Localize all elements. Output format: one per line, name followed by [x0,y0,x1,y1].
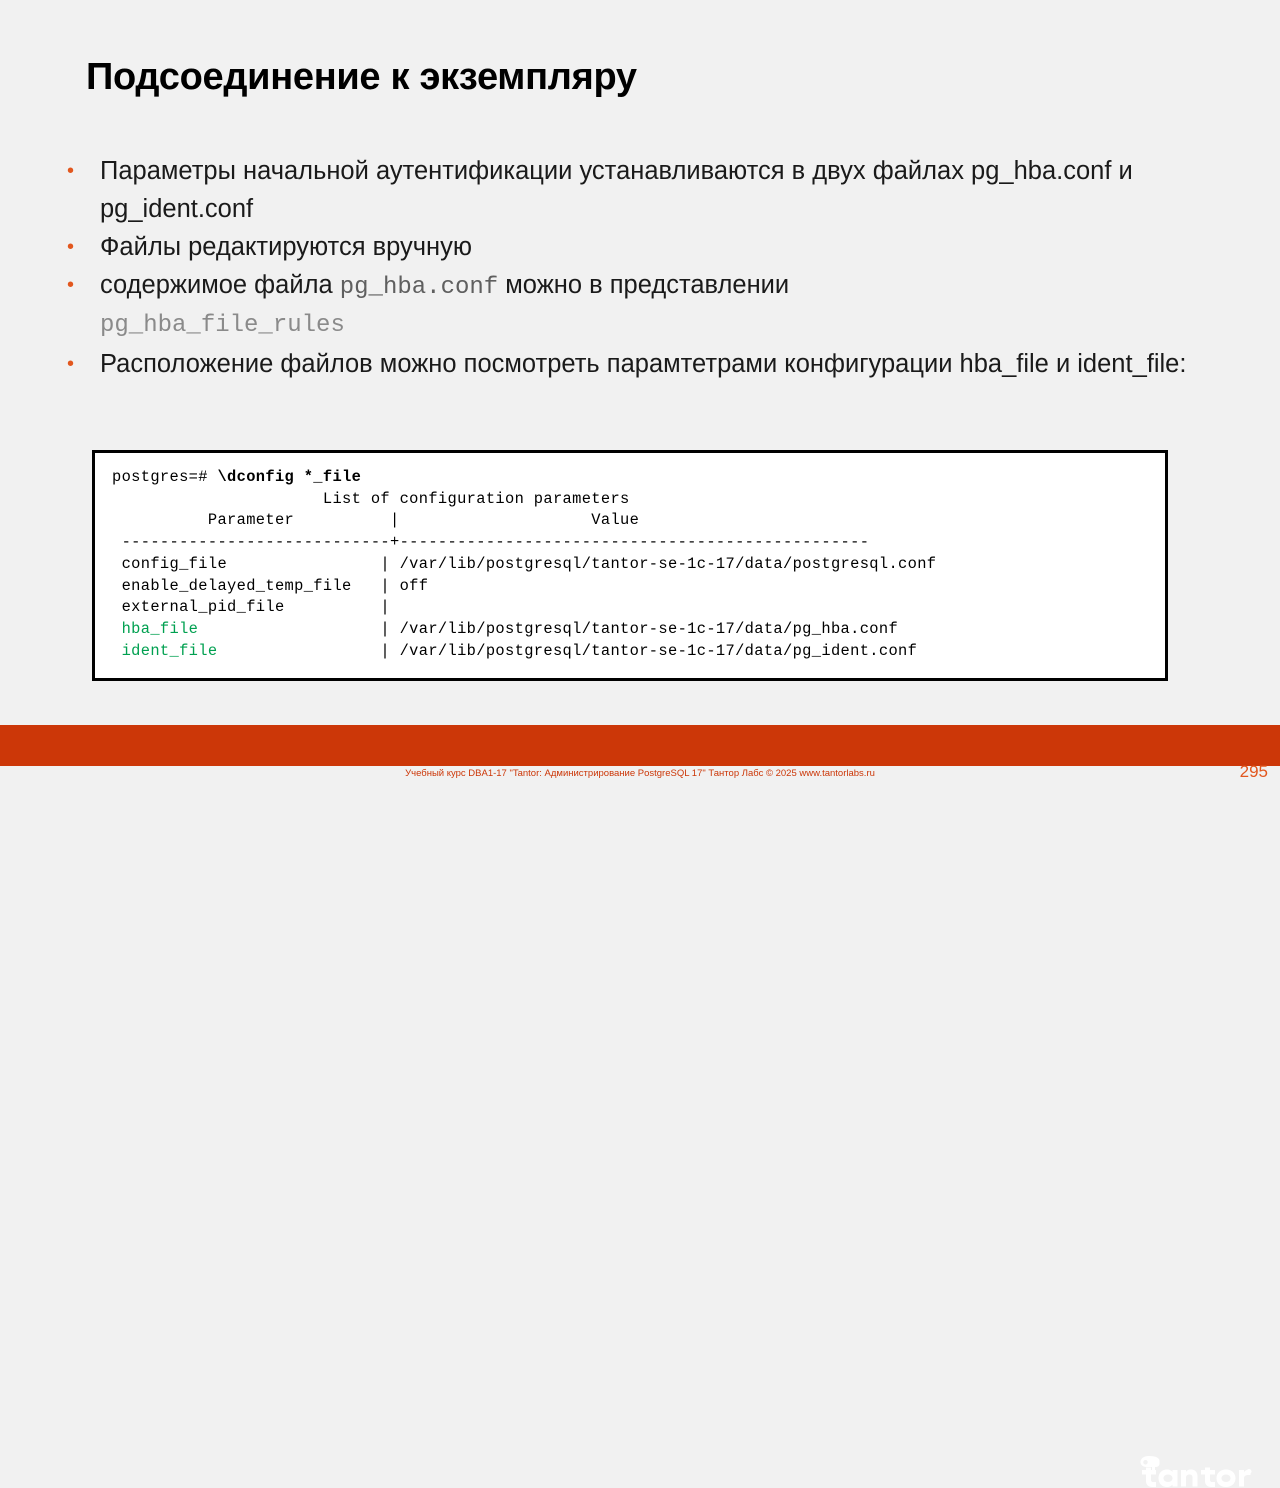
page-number: 295 [1240,762,1268,782]
footer-copyright: Учебный курс DBA1-17 "Tantor: Администри… [0,766,1280,781]
terminal-span: | [380,598,390,616]
tantor-logo [1136,1454,1252,1488]
text-segment: pg_hba_file_rules [100,307,1235,345]
terminal-span: off [400,577,429,595]
terminal-span: | [380,577,399,595]
text-segment: Расположение файлов можно посмотреть пар… [100,350,1186,378]
terminal-span: | [380,642,399,660]
list-item: • Параметры начальной аутентификации уст… [55,152,1235,228]
bullet-marker: • [67,345,74,383]
bullet-marker: • [67,152,74,190]
terminal-span: postgres=# [112,468,217,486]
terminal-span: /var/lib/postgresql/tantor-se-1c-17/data… [400,555,937,573]
page-title: Подсоединение к экземпляру [86,56,637,99]
terminal-span: ----------------------------+-----------… [112,533,869,551]
text-segment: можно в представлении [498,271,789,299]
bullet-marker: • [67,228,74,266]
list-item: • Расположение файлов можно посмотреть п… [55,345,1235,383]
terminal-text: postgres=# \dconfig *_file List of confi… [95,453,1165,662]
list-item-text: Расположение файлов можно посмотреть пар… [100,350,1186,378]
terminal-span: hba_file [112,620,380,638]
list-item-text: содержимое файла pg_hba.conf можно в пре… [100,271,1235,345]
terminal-span: List of configuration parameters [112,490,630,508]
bullet-marker: • [67,266,74,304]
bullet-list: • Параметры начальной аутентификации уст… [55,152,1235,383]
list-item: • Файлы редактируются вручную [55,228,1235,266]
list-item-text: Параметры начальной аутентификации устан… [100,157,1133,223]
terminal-span: | [380,555,399,573]
footer-bar [0,725,1280,766]
terminal-span: enable_delayed_temp_file [112,577,380,595]
terminal-span: config_file [112,555,380,573]
text-segment: Параметры начальной аутентификации устан… [100,157,1133,223]
text-segment: Файлы редактируются вручную [100,233,472,261]
slide: Подсоединение к экземпляру • Параметры н… [0,0,1280,781]
terminal-output-box: postgres=# \dconfig *_file List of confi… [92,450,1168,681]
terminal-span: ident_file [112,642,380,660]
terminal-span: /var/lib/postgresql/tantor-se-1c-17/data… [400,620,898,638]
terminal-span: /var/lib/postgresql/tantor-se-1c-17/data… [400,642,918,660]
text-segment: содержимое файла [100,271,340,299]
terminal-span: | [380,620,399,638]
list-item: • содержимое файла pg_hba.conf можно в п… [55,266,1235,345]
text-segment: pg_hba.conf [340,274,498,301]
terminal-span: external_pid_file [112,598,380,616]
list-item-text: Файлы редактируются вручную [100,233,472,261]
terminal-span: Parameter | Value [112,511,639,529]
terminal-span: \dconfig *_file [217,468,361,486]
